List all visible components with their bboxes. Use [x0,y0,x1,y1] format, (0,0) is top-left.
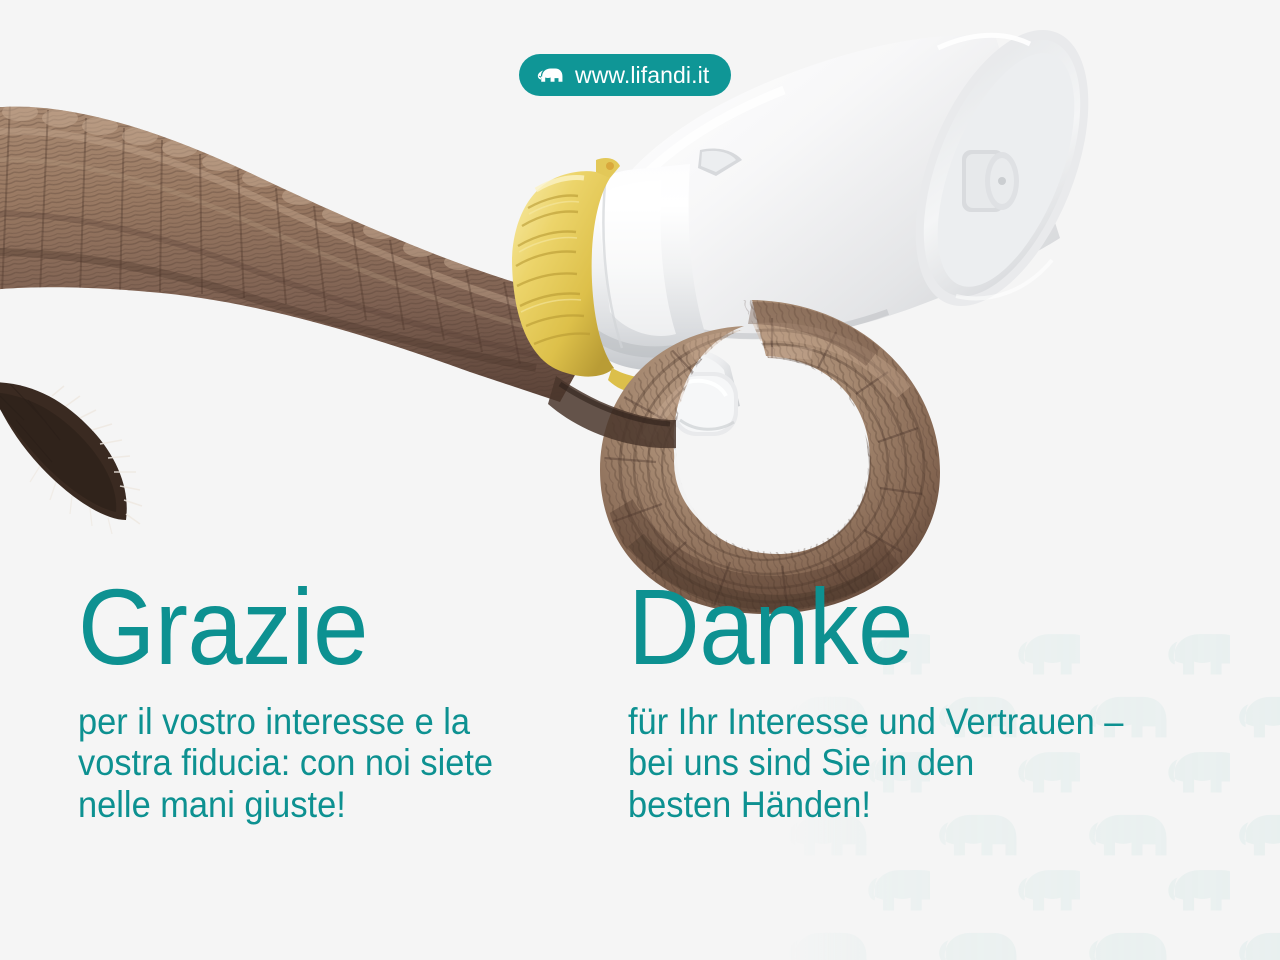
url-text: www.lifandi.it [575,64,709,87]
body-italian-line-1: per il vostro interesse e la [78,701,562,742]
headline-italian: Grazie [78,575,556,679]
body-italian-line-3: nelle mani giuste! [78,784,562,825]
elephant-logo-icon [537,64,563,86]
column-italian: Grazie per il vostro interesse e la vost… [78,575,598,825]
body-german-line-3: besten Händen! [628,784,1186,825]
body-german: für Ihr Interesse und Vertrauen – bei un… [628,701,1186,825]
body-italian-line-2: vostra fiducia: con noi siete [78,742,562,783]
website-url-badge[interactable]: www.lifandi.it [519,54,731,96]
body-italian: per il vostro interesse e la vostra fidu… [78,701,562,825]
headline-german: Danke [628,575,1180,679]
body-german-line-2: bei uns sind Sie in den [628,742,1186,783]
column-german: Danke für Ihr Interesse und Vertrauen – … [628,575,1228,825]
poster-canvas: www.lifandi.it Grazie per il vostro inte… [0,0,1280,960]
horn-bracket [962,150,1019,212]
body-german-line-1: für Ihr Interesse und Vertrauen – [628,701,1186,742]
